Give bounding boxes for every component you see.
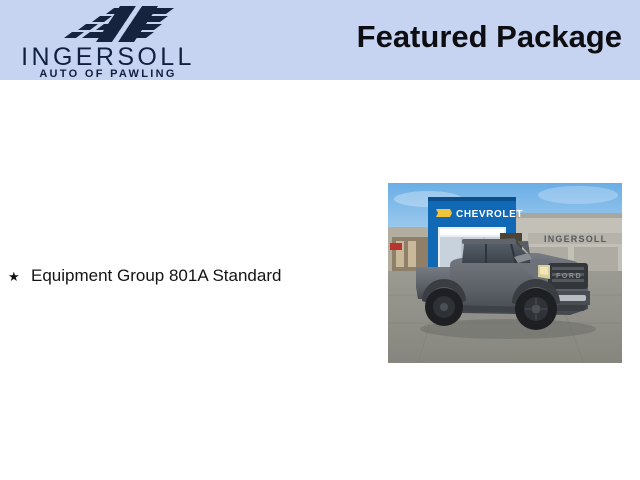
- header-band: INGERSOLL AUTO OF PAWLING Featured Packa…: [0, 0, 640, 80]
- page-title: Featured Package: [357, 18, 622, 56]
- star-bullet-icon: ★: [8, 265, 31, 289]
- svg-text:FORD: FORD: [556, 273, 582, 280]
- feature-list: ★ Equipment Group 801A Standard: [8, 264, 358, 289]
- dealer-logo-name: INGERSOLL: [8, 44, 208, 70]
- vehicle-photo: INGERSOLL CHEVROLET: [388, 183, 622, 363]
- ingersoll-wing-emblem-icon: [56, 6, 178, 42]
- dealer-logo: INGERSOLL AUTO OF PAWLING: [8, 4, 208, 80]
- dealer-logo-tagline: AUTO OF PAWLING: [8, 68, 208, 80]
- list-item: ★ Equipment Group 801A Standard: [8, 264, 358, 289]
- dealership-brand-text: CHEVROLET: [456, 209, 523, 220]
- building-name-text: INGERSOLL: [544, 234, 607, 244]
- feature-label: Equipment Group 801A Standard: [31, 264, 281, 288]
